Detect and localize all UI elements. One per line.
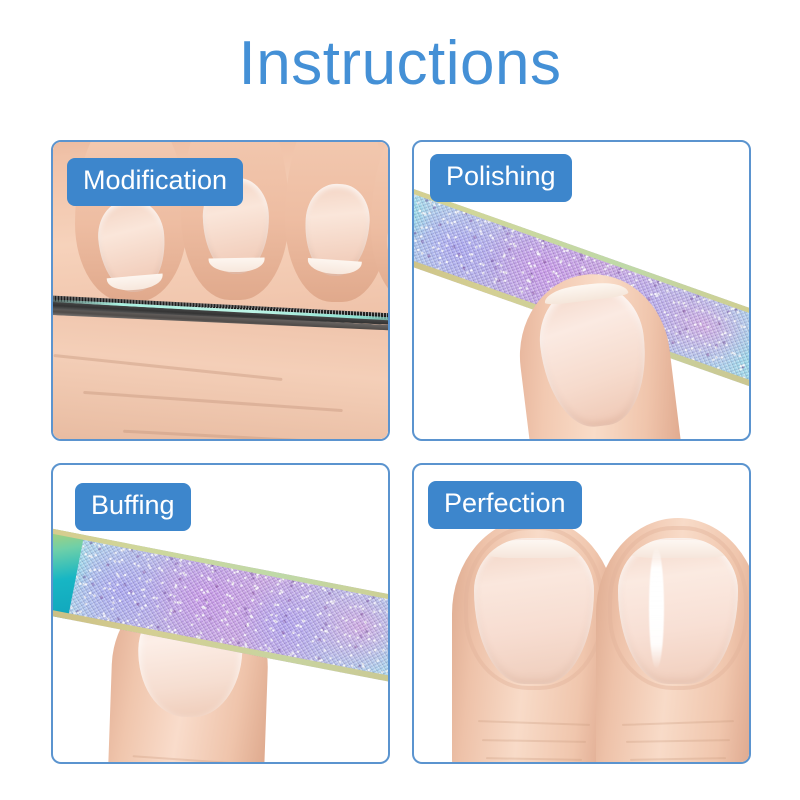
panel-buffing: Buffing [51, 463, 390, 764]
panel-label-perfection: Perfection [428, 481, 582, 529]
cuticle-ring [464, 526, 604, 690]
cuticle-ring [608, 526, 748, 690]
panel-label-buffing: Buffing [75, 483, 191, 531]
panel-label-modification: Modification [67, 158, 243, 206]
panel-polishing: Polishing [412, 140, 751, 441]
palm-crease [53, 354, 282, 381]
knuckle-crease [133, 755, 243, 762]
panel-modification: Modification [51, 140, 390, 441]
knuckle-crease [626, 739, 730, 743]
panel-label-polishing: Polishing [430, 154, 572, 202]
knuckle-crease [630, 757, 726, 761]
palm-crease [83, 391, 343, 412]
knuckle-crease [622, 720, 734, 726]
knuckle-crease [482, 739, 586, 743]
palm-crease [123, 430, 363, 439]
instruction-panel-grid: Modification [51, 140, 751, 764]
knuckle-crease [478, 720, 590, 726]
fingertip-glossy [596, 518, 749, 762]
fingertip-matte [452, 518, 616, 762]
fingernail [533, 278, 654, 432]
panel-perfection: Perfection [412, 463, 751, 764]
knuckle-crease [486, 757, 582, 761]
page-title: Instructions [0, 22, 800, 106]
nail-free-edge [544, 280, 629, 306]
